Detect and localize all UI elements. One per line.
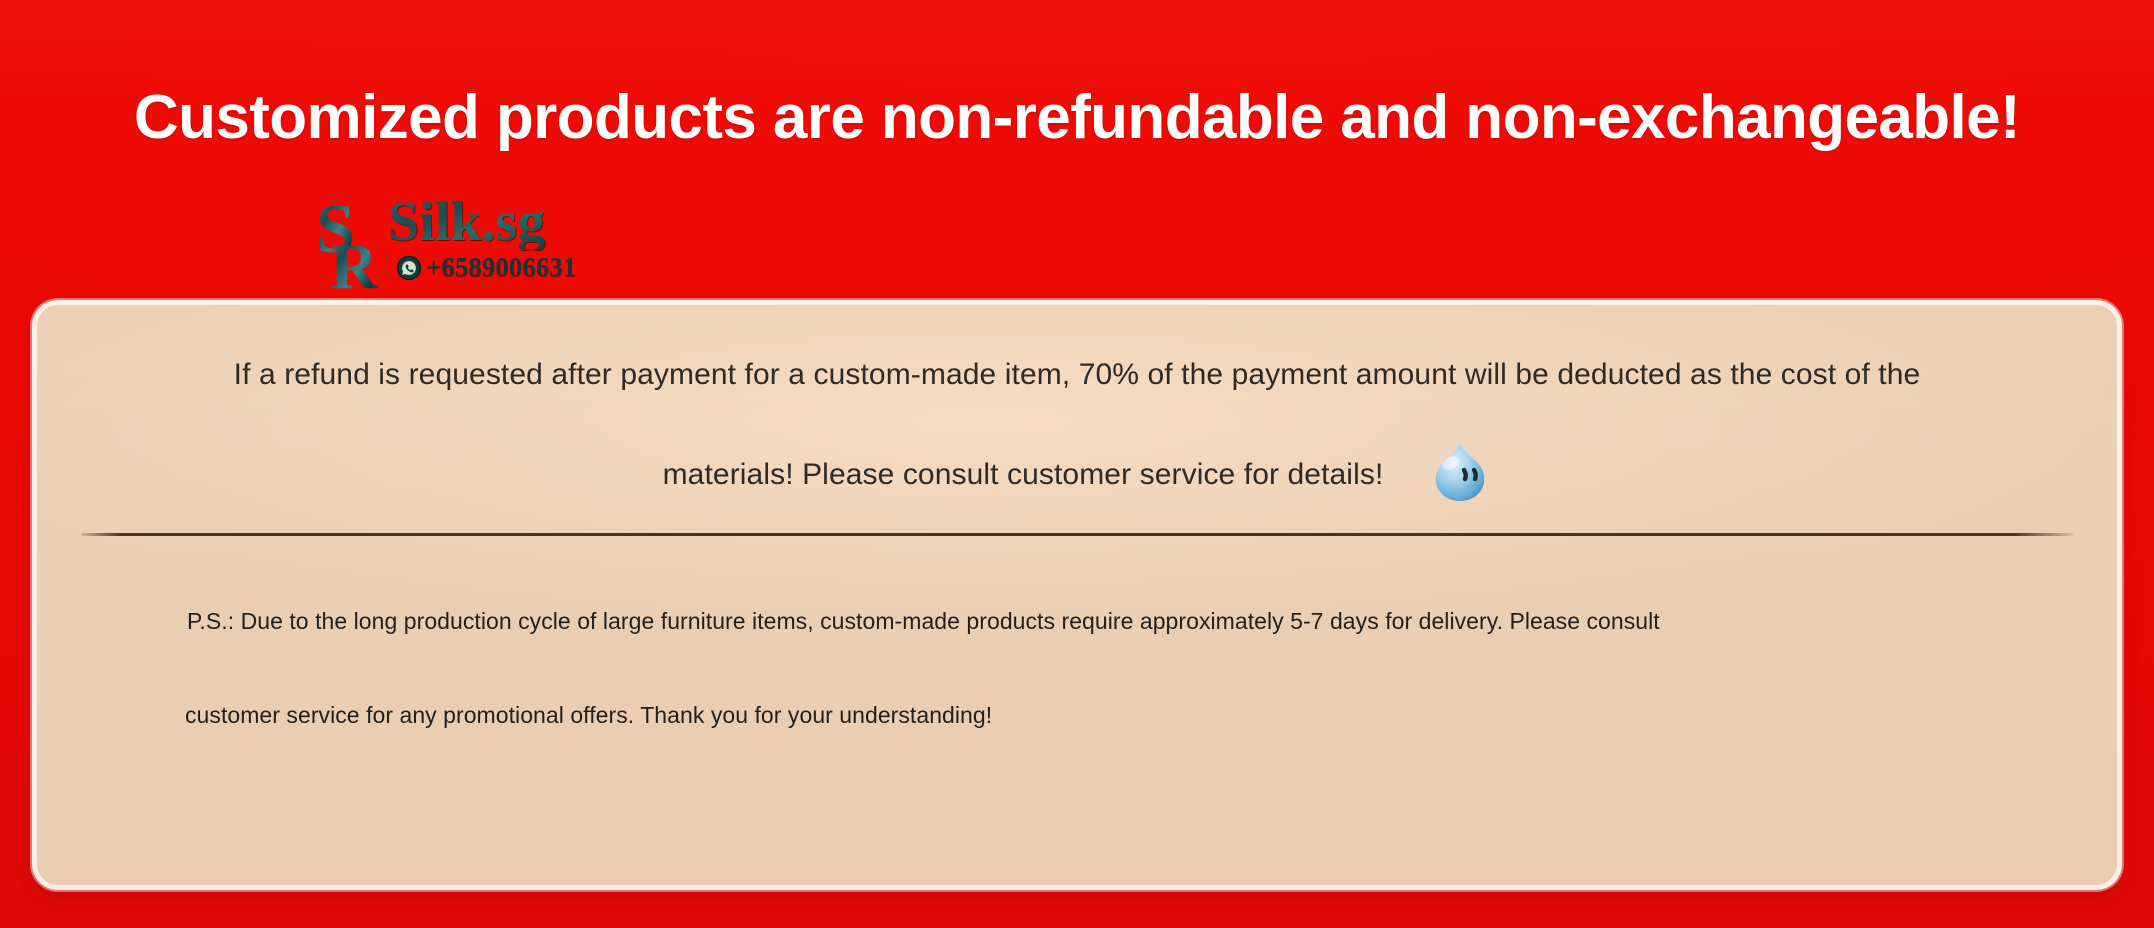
section-divider bbox=[81, 533, 2073, 536]
policy-text-line-2-row: materials! Please consult customer servi… bbox=[37, 445, 2117, 505]
logo-phone-number[interactable]: +6589006631 bbox=[426, 252, 576, 283]
postscript-line-1: P.S.: Due to the long production cycle o… bbox=[187, 608, 1660, 635]
sr-monogram-icon: S R bbox=[316, 198, 394, 292]
policy-text-line-2: materials! Please consult customer servi… bbox=[663, 458, 1384, 492]
promo-banner: Customized products are non-refundable a… bbox=[0, 0, 2154, 928]
postscript-line-2: customer service for any promotional off… bbox=[185, 702, 992, 729]
logo-contact[interactable]: +6589006631 bbox=[396, 252, 576, 283]
policy-text-line-1: If a refund is requested after payment f… bbox=[37, 358, 2117, 392]
policy-card: If a refund is requested after payment f… bbox=[32, 300, 2122, 890]
page-title: Customized products are non-refundable a… bbox=[0, 82, 2154, 153]
brand-logo: S R Silk.sg +6589006631 bbox=[316, 198, 556, 292]
svg-text:R: R bbox=[330, 230, 379, 292]
brand-wordmark: Silk.sg bbox=[388, 194, 545, 250]
blue-sweat-drop-emoji bbox=[1429, 439, 1491, 505]
whatsapp-icon[interactable] bbox=[396, 255, 422, 281]
